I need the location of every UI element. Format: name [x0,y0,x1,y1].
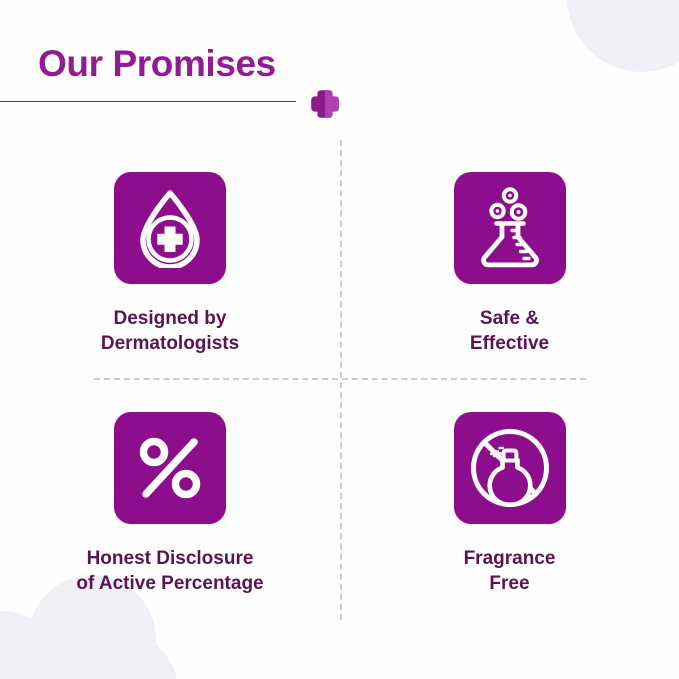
promise-icon-tile [114,412,226,524]
promise-icon-tile [454,172,566,284]
promise-item-designed-by-dermatologists: Designed by Dermatologists [0,150,340,390]
page-title: Our Promises [0,44,360,85]
promises-banner: Our Promises Designed by Dermatologists [0,0,679,679]
plus-cross-decoration-icon [308,87,342,121]
promise-label: Honest Disclosure of Active Percentage [76,546,263,597]
promise-label: Designed by Dermatologists [101,306,239,357]
promise-item-fragrance-free: Fragrance Free [340,390,679,630]
promise-label: Safe & Effective [470,306,549,357]
promise-item-honest-disclosure: Honest Disclosure of Active Percentage [0,390,340,630]
promise-icon-tile [114,172,226,284]
no-perfume-bottle-icon [469,427,551,509]
percent-sign-icon [136,434,204,502]
promises-grid: Designed by Dermatologists [0,150,679,630]
promise-item-safe-and-effective: Safe & Effective [340,150,679,390]
decorative-blob-top-right [567,0,679,72]
header: Our Promises [0,44,360,85]
decorative-blob-bottom-left-tertiary [58,631,178,679]
promise-label: Fragrance Free [464,546,556,597]
decorative-blob-bottom-left-quaternary [0,643,86,679]
title-underline-rule [0,101,296,102]
decorative-blob-top-right-secondary [627,0,679,58]
droplet-medical-cross-icon [133,188,207,268]
promise-icon-tile [454,412,566,524]
flask-bubbles-icon [473,187,547,269]
